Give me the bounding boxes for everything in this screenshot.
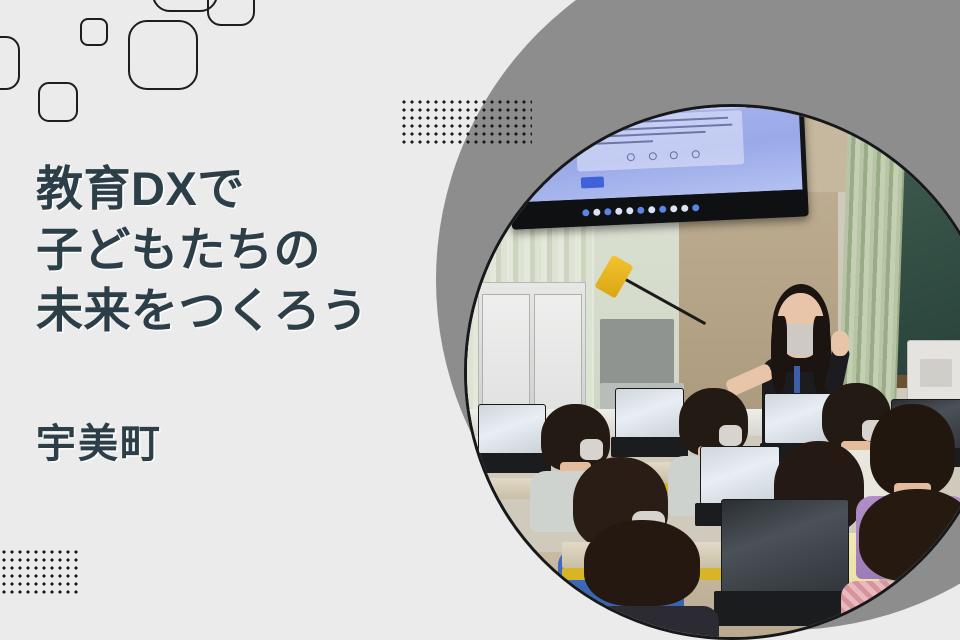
display-screen [512,107,803,203]
teacher-hair [771,316,788,392]
student-foreground [584,520,701,637]
classroom-photo: 10:08 [464,104,960,640]
rounded-square-icon [207,0,255,26]
student-laptop [478,404,547,473]
rounded-square-icon [128,20,198,90]
clock-digits: 10:08 [944,149,960,159]
rounded-square-icon [38,82,78,122]
screen-form-card [575,110,744,172]
storage-cabinet [478,282,586,422]
dot-grid-pattern-bottom [0,548,80,596]
foreground-laptop [721,499,848,626]
municipality-name: 宇美町 [36,341,456,469]
screen-submit-button [581,177,604,189]
poster-canvas: 10:08 [0,0,960,640]
wall-mounted-display [507,107,809,230]
rounded-square-icon [80,18,108,46]
student-pink-gingham [859,489,960,637]
cabinet-door [482,294,531,412]
teacher-hand [831,331,849,356]
text-block: 教育DXで 子どもたちの 未来をつくろう 宇美町 [36,158,456,469]
cabinet-door [534,294,583,412]
student-laptop [615,388,684,457]
digital-clock: 10:08 [933,136,960,173]
rounded-square-icon [0,36,20,90]
classroom-equipment [907,340,960,406]
page-title: 教育DXで 子どもたちの 未来をつくろう [36,158,456,341]
